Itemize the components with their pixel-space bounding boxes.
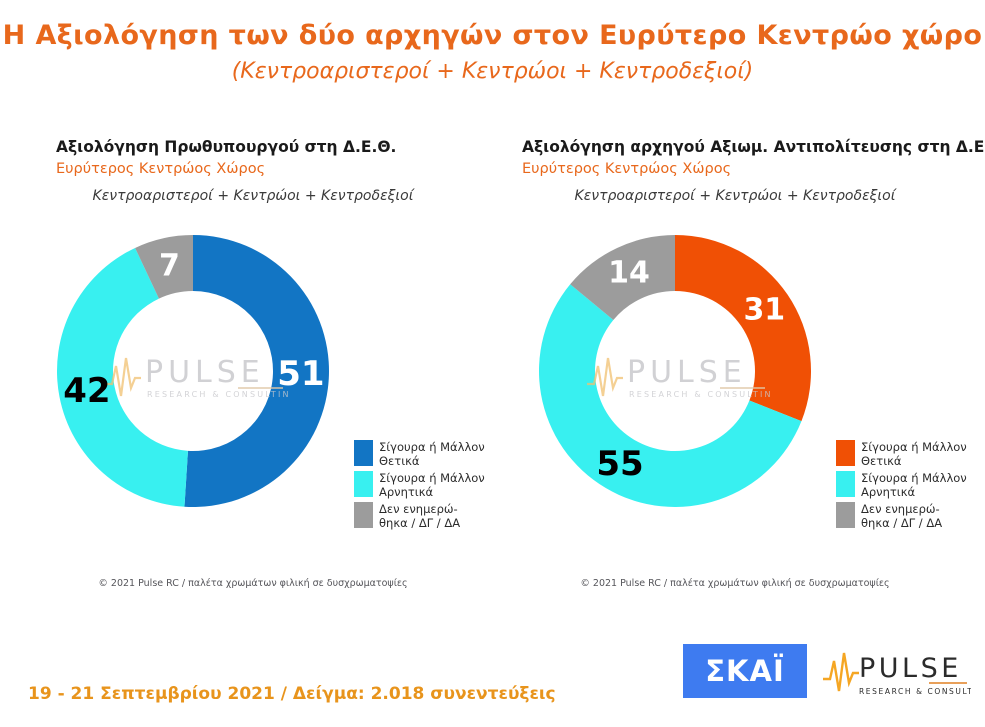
legend-label: Σίγουρα ή Μάλλον Θετικά xyxy=(379,440,485,468)
legend-swatch-positive xyxy=(836,440,855,466)
segment-value-label: 7 xyxy=(159,248,180,283)
chart-footnote: © 2021 Pulse RC / παλέτα χρωμάτων φιλική… xyxy=(18,578,488,589)
skai-logo-text: ΣΚΑΪ xyxy=(705,654,785,688)
chart-panel-opposition-leader: Αξιολόγηση αρχηγού Αξιωμ. Αντιπολίτευσης… xyxy=(500,130,970,610)
logo-row: ΣΚΑΪ PULSE RESEARCH & CONSULTING xyxy=(683,643,971,699)
legend-item[interactable]: Σίγουρα ή Μάλλον Αρνητικά xyxy=(836,471,976,502)
donut-chart: PULSE RESEARCH & CONSULTING 31 55 14 xyxy=(530,226,820,516)
donut-svg xyxy=(530,226,820,516)
panel-title: Αξιολόγηση αρχηγού Αξιωμ. Αντιπολίτευσης… xyxy=(522,138,985,156)
segment-value-label: 51 xyxy=(277,354,324,394)
legend-item[interactable]: Σίγουρα ή Μάλλον Θετικά xyxy=(836,440,976,471)
segment-value-label: 14 xyxy=(608,256,650,291)
page-subtitle: (Κεντροαριστεροί + Κεντρώοι + Κεντροδεξι… xyxy=(0,59,985,84)
svg-text:PULSE: PULSE xyxy=(859,653,962,684)
chart-footnote: © 2021 Pulse RC / παλέτα χρωμάτων φιλική… xyxy=(500,578,970,589)
legend-label: Σίγουρα ή Μάλλον Θετικά xyxy=(861,440,967,468)
svg-text:RESEARCH & CONSULTING: RESEARCH & CONSULTING xyxy=(859,687,971,696)
legend-swatch-nodata xyxy=(354,502,373,528)
chart-legend: Σίγουρα ή Μάλλον Θετικά Σίγουρα ή Μάλλον… xyxy=(836,440,976,533)
segment-value-label: 31 xyxy=(743,293,785,328)
chart-panel-prime-minister: Αξιολόγηση Πρωθυπουργού στη Δ.Ε.Θ. Ευρύτ… xyxy=(18,130,488,610)
survey-footer-note: 19 - 21 Σεπτεμβρίου 2021 / Δείγμα: 2.018… xyxy=(28,684,556,704)
legend-label: Σίγουρα ή Μάλλον Αρνητικά xyxy=(861,471,967,499)
legend-item[interactable]: Σίγουρα ή Μάλλον Θετικά xyxy=(354,440,494,471)
legend-label: Δεν ενημερώ- θηκα / ΔΓ / ΔΑ xyxy=(379,502,460,530)
legend-label: Σίγουρα ή Μάλλον Αρνητικά xyxy=(379,471,485,499)
panel-subtitle: Ευρύτερος Κεντρώος Χώρος xyxy=(56,161,265,177)
donut-chart: PULSE RESEARCH & CONSULTING 51 42 7 xyxy=(48,226,338,516)
segment-value-label: 42 xyxy=(63,371,110,411)
panel-subtitle: Ευρύτερος Κεντρώος Χώρος xyxy=(522,161,731,177)
panel-note: Κεντροαριστεροί + Κεντρώοι + Κεντροδεξιο… xyxy=(18,188,488,204)
legend-swatch-negative xyxy=(836,471,855,497)
legend-swatch-negative xyxy=(354,471,373,497)
panel-note: Κεντροαριστεροί + Κεντρώοι + Κεντροδεξιο… xyxy=(500,188,970,204)
legend-item[interactable]: Σίγουρα ή Μάλλον Αρνητικά xyxy=(354,471,494,502)
legend-swatch-nodata xyxy=(836,502,855,528)
legend-label: Δεν ενημερώ- θηκα / ΔΓ / ΔΑ xyxy=(861,502,942,530)
donut-segments xyxy=(539,235,811,507)
legend-item[interactable]: Δεν ενημερώ- θηκα / ΔΓ / ΔΑ xyxy=(836,502,976,533)
chart-legend: Σίγουρα ή Μάλλον Θετικά Σίγουρα ή Μάλλον… xyxy=(354,440,494,533)
donut-segment xyxy=(675,235,811,421)
skai-logo: ΣΚΑΪ xyxy=(683,644,807,698)
pulse-logo: PULSE RESEARCH & CONSULTING xyxy=(821,643,971,699)
panel-title: Αξιολόγηση Πρωθυπουργού στη Δ.Ε.Θ. xyxy=(56,138,396,156)
page-title: Η Αξιολόγηση των δύο αρχηγών στον Ευρύτε… xyxy=(0,20,985,51)
legend-item[interactable]: Δεν ενημερώ- θηκα / ΔΓ / ΔΑ xyxy=(354,502,494,533)
segment-value-label: 55 xyxy=(596,444,643,484)
legend-swatch-positive xyxy=(354,440,373,466)
